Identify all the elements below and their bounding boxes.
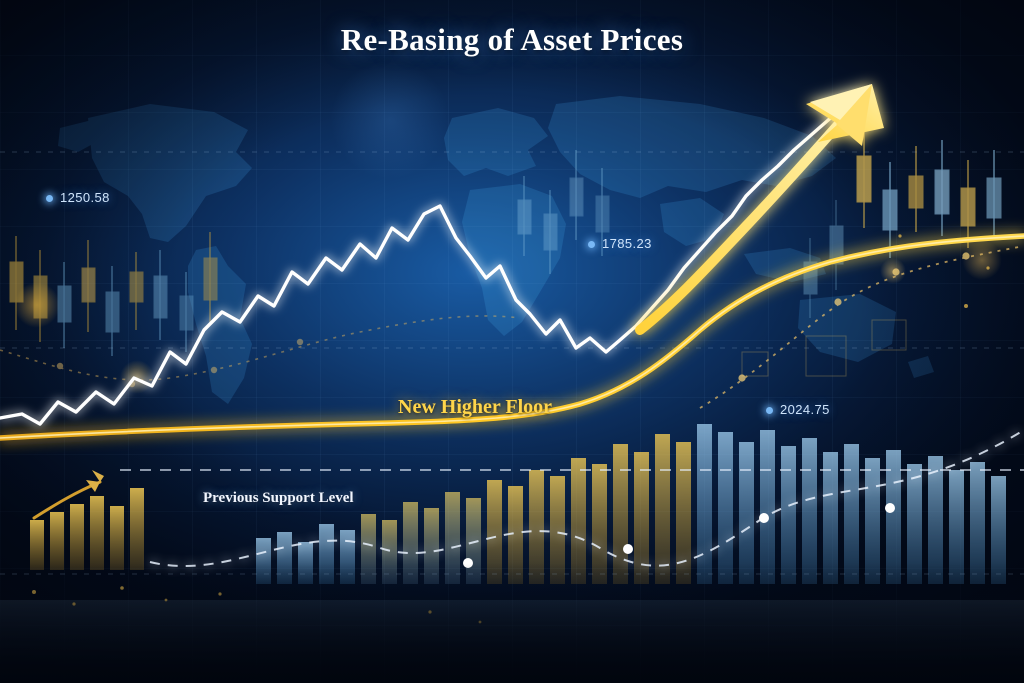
price-marker-dot (46, 195, 53, 202)
candlestick-cluster-center (518, 150, 609, 274)
asset-price-line (0, 96, 858, 424)
annotation-previous-support-level: Previous Support Level (203, 490, 354, 507)
price-label-value: 1785.23 (602, 236, 652, 251)
right-dotted-curve (700, 246, 1024, 408)
price-marker-dot (588, 241, 595, 248)
secondary-dotted-curve (0, 316, 520, 387)
price-label-3: 2024.75 (766, 402, 830, 417)
price-label-2: 1785.23 (588, 236, 652, 251)
trend-arrow-icon (640, 84, 884, 330)
price-marker-dot (766, 407, 773, 414)
chart-canvas: Re-Basing of Asset Prices New Higher Flo… (0, 0, 1024, 683)
price-label-value: 2024.75 (780, 402, 830, 417)
background-blocks (742, 320, 906, 376)
candlestick-cluster-left (10, 232, 217, 356)
price-label-value: 1250.58 (60, 190, 110, 205)
annotation-new-higher-floor: New Higher Floor (398, 396, 552, 419)
price-label-1: 1250.58 (46, 190, 110, 205)
volume-bars (30, 424, 1006, 584)
page-title: Re-Basing of Asset Prices (0, 22, 1024, 58)
bottom-reflection (0, 563, 1024, 683)
candlestick-cluster-right (804, 128, 1001, 318)
